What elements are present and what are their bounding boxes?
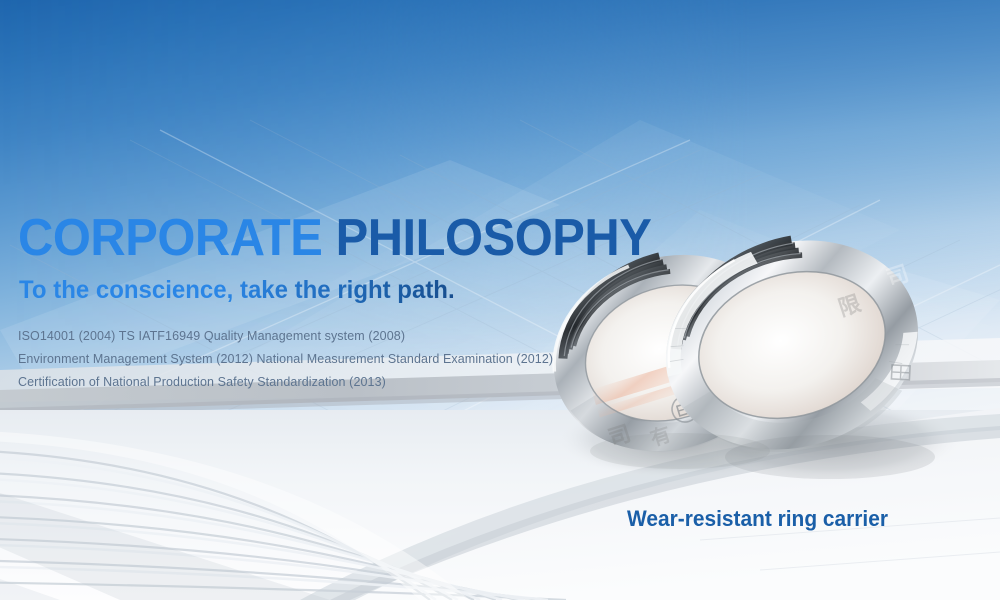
product-caption: Wear-resistant ring carrier <box>627 506 888 532</box>
certification-line: Environment Management System (2012) Nat… <box>18 348 638 371</box>
certification-line: Certification of National Production Saf… <box>18 371 638 394</box>
certification-list: ISO14001 (2004) TS IATF16949 Quality Man… <box>18 325 638 394</box>
corporate-philosophy-banner: 司 限 司 有 CORPORATE PHILOSOPHY To the cons… <box>0 0 1000 600</box>
banner-copy-block: CORPORATE PHILOSOPHY To the conscience, … <box>18 212 638 394</box>
page-title: CORPORATE PHILOSOPHY <box>18 212 601 264</box>
certification-line: ISO14001 (2004) TS IATF16949 Quality Man… <box>18 325 638 348</box>
subheadline: To the conscience, take the right path. <box>19 278 613 303</box>
headline-word-corporate: CORPORATE <box>18 209 322 267</box>
headline-word-philosophy: PHILOSOPHY <box>322 209 651 267</box>
